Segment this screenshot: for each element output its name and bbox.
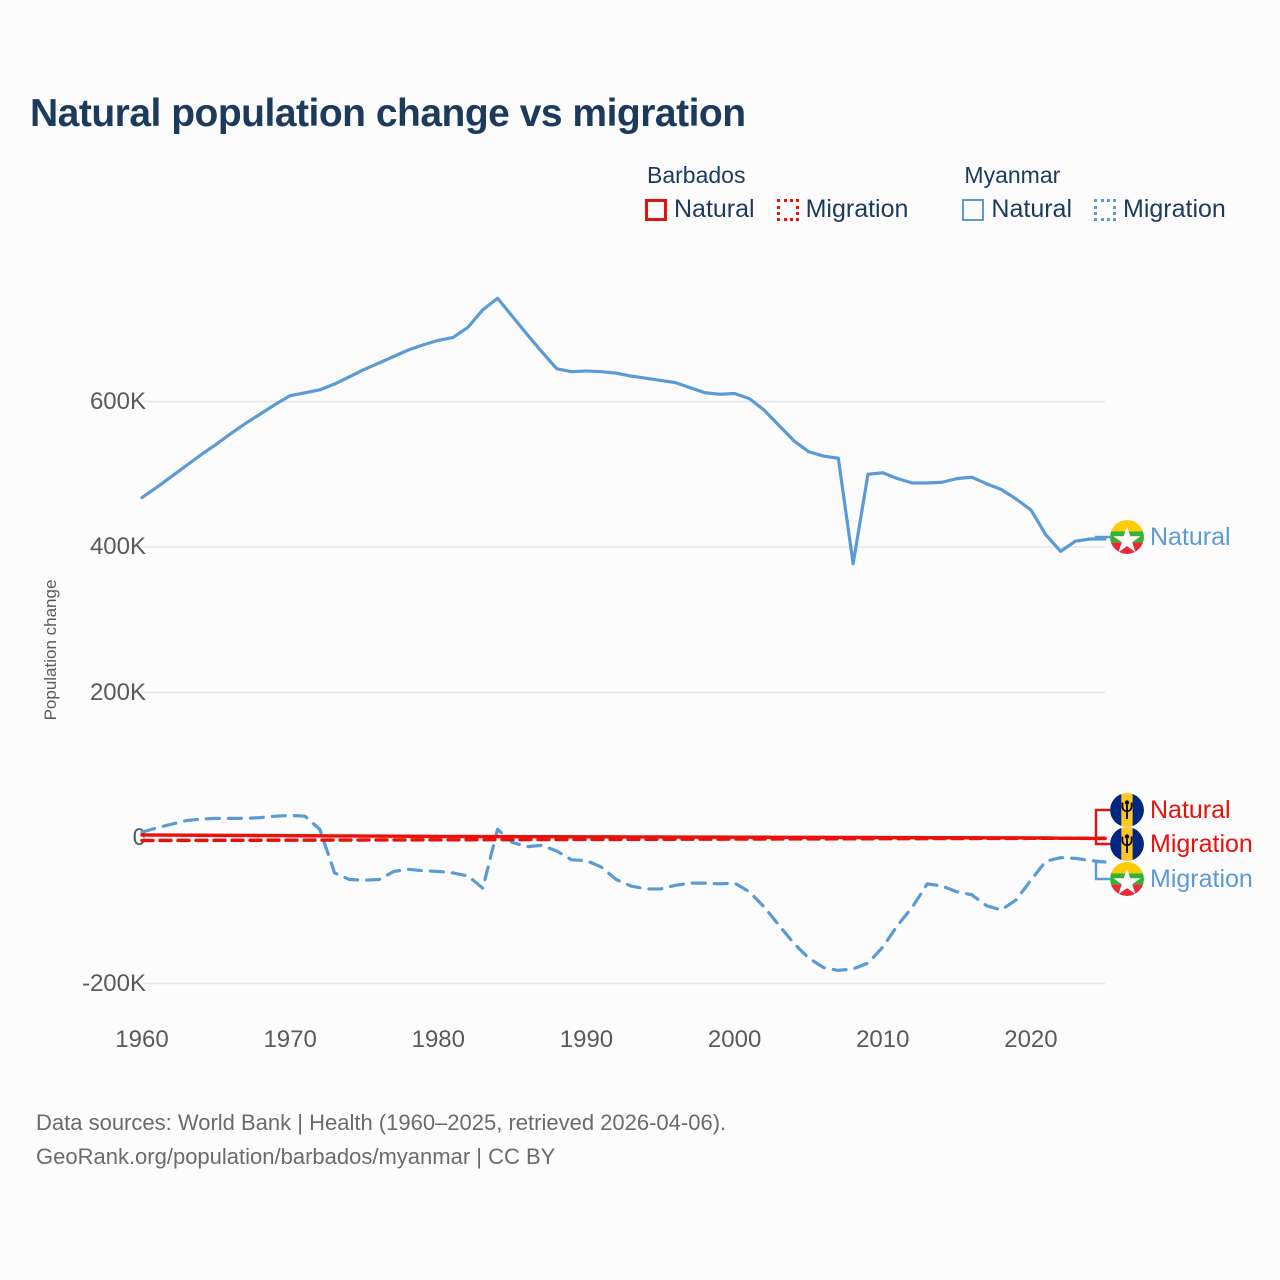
series-end-label-text: Migration — [1150, 865, 1253, 894]
series-line-myanmar-natural — [142, 298, 1105, 564]
myanmar-flag-icon — [1110, 520, 1144, 554]
series-connector — [1096, 862, 1110, 879]
series-connector — [1096, 810, 1110, 839]
barbados-flag-icon — [1110, 793, 1144, 827]
series-end-label[interactable]: Migration — [1110, 827, 1253, 861]
series-end-label-text: Natural — [1150, 796, 1231, 825]
myanmar-flag-icon — [1110, 862, 1144, 896]
footer-credits: Data sources: World Bank | Health (1960–… — [36, 1106, 726, 1174]
barbados-flag-icon — [1110, 827, 1144, 861]
footer-line-url: GeoRank.org/population/barbados/myanmar … — [36, 1140, 726, 1174]
series-connector — [1096, 838, 1110, 844]
plot-area: Population change -200K0200K400K600K1960… — [0, 0, 1280, 1280]
series-connector — [1096, 537, 1110, 539]
chart-page: Natural population change vs migration B… — [0, 0, 1280, 1280]
plot-svg — [0, 0, 1280, 1280]
series-end-label-text: Migration — [1150, 830, 1253, 859]
series-end-label[interactable]: Migration — [1110, 862, 1253, 896]
footer-line-sources: Data sources: World Bank | Health (1960–… — [36, 1106, 726, 1140]
series-end-label[interactable]: Natural — [1110, 520, 1231, 554]
series-end-label-text: Natural — [1150, 523, 1231, 552]
series-end-label[interactable]: Natural — [1110, 793, 1231, 827]
